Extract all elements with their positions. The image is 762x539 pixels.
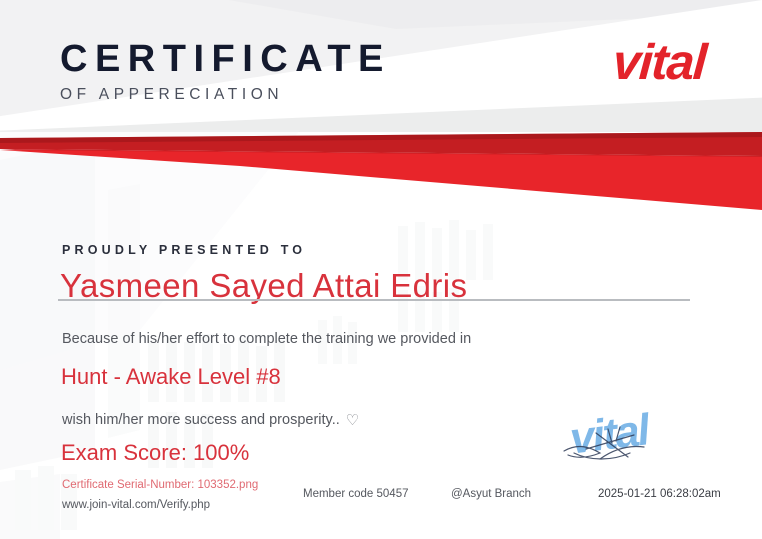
name-underline-rule bbox=[58, 299, 690, 301]
wish-line: wish him/her more success and prosperity… bbox=[62, 411, 359, 429]
wish-line-text: wish him/her more success and prosperity… bbox=[62, 412, 340, 428]
presented-to-label: PROUDLY PRESENTED TO bbox=[62, 243, 306, 257]
certificate-serial-number: Certificate Serial-Number: 103352.png bbox=[62, 479, 258, 491]
page-subtitle: OF APPERECIATION bbox=[60, 87, 391, 103]
certificate-document: CERTIFICATE OF APPERECIATION vital PROUD… bbox=[0, 0, 762, 539]
course-name: Hunt - Awake Level #8 bbox=[61, 364, 281, 390]
issue-date: 2025-01-21 06:28:02am bbox=[598, 488, 721, 500]
vital-logo: vital bbox=[612, 37, 708, 87]
branch-name: @Asyut Branch bbox=[451, 488, 531, 500]
verify-url[interactable]: www.join-vital.com/Verify.php bbox=[62, 499, 210, 511]
title-block: CERTIFICATE OF APPERECIATION bbox=[60, 40, 391, 103]
heart-icon: ♡ bbox=[346, 411, 359, 429]
reason-line: Because of his/her effort to complete th… bbox=[62, 331, 471, 347]
page-title: CERTIFICATE bbox=[60, 40, 391, 78]
member-code: Member code 50457 bbox=[303, 488, 408, 500]
exam-score: Exam Score: 100% bbox=[61, 440, 249, 466]
